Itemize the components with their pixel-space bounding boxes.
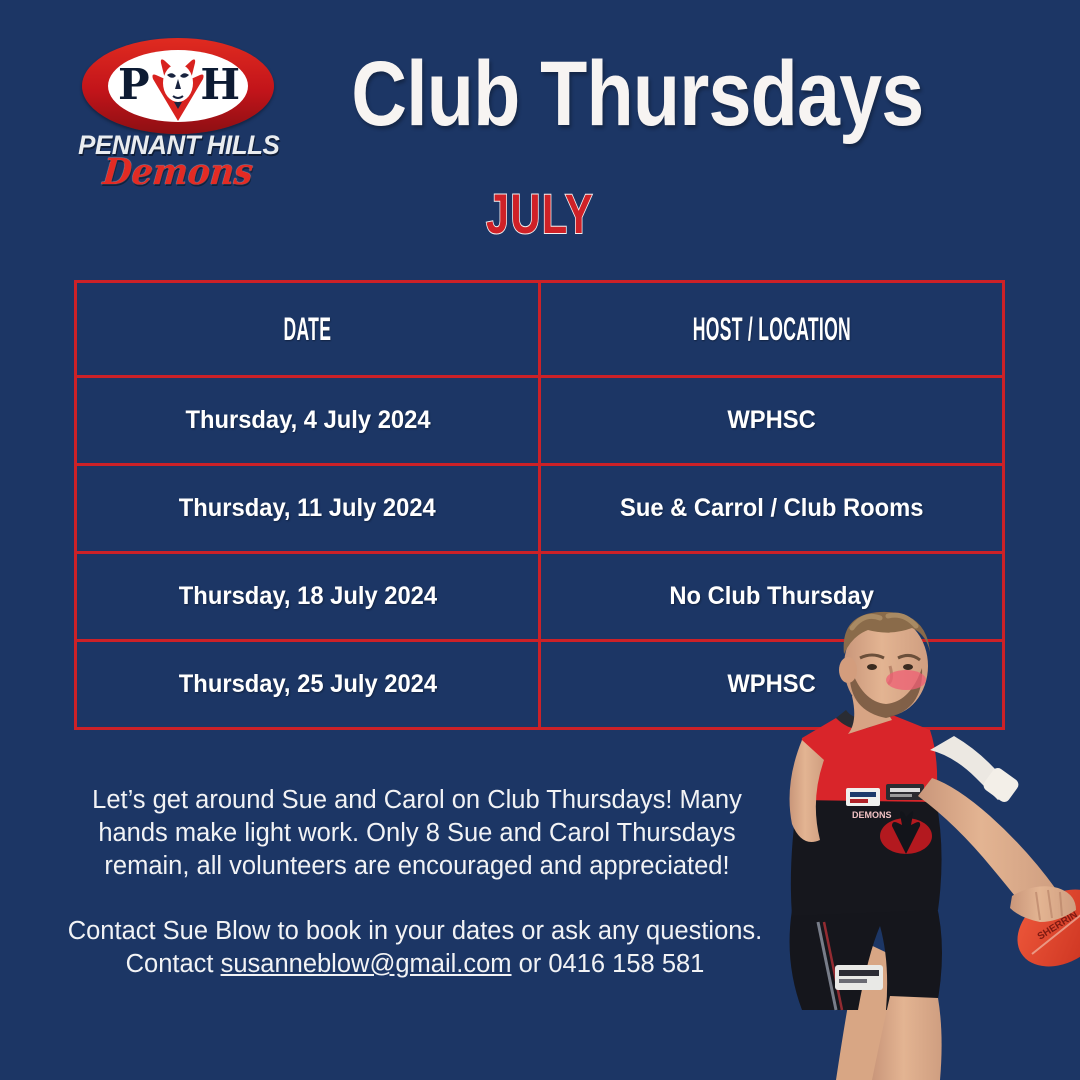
logo-ellipse-outer: P H: [82, 38, 274, 134]
cell-host: Sue & Carrol / Club Rooms: [540, 465, 1004, 553]
cell-date: Thursday, 4 July 2024: [76, 377, 540, 465]
month-heading: JULY: [392, 186, 688, 242]
contact-phone: 0416 158 581: [548, 950, 704, 978]
logo-script-demons: Demons: [80, 151, 275, 193]
devil-head-icon: [147, 53, 209, 121]
table-row: Thursday, 18 July 2024 No Club Thursday: [76, 553, 1004, 641]
cell-host-label: Sue & Carrol / Club Rooms: [620, 494, 924, 523]
blurb-text: Let’s get around Sue and Carol on Club T…: [74, 784, 760, 883]
logo-ellipse-inner: P H: [108, 50, 248, 122]
cell-host-label: No Club Thursday: [669, 582, 874, 611]
contact-email-link[interactable]: susanneblow@gmail.com: [221, 950, 512, 978]
contact-line-2: Contact susanneblow@gmail.com or 0416 15…: [60, 948, 770, 981]
cell-host: WPHSC: [540, 377, 1004, 465]
table-row: Thursday, 4 July 2024 WPHSC: [76, 377, 1004, 465]
column-header-host-label: HOST / LOCATION: [692, 311, 850, 348]
pennant-hills-demons-logo: P H PENNANT HILLS Demons: [74, 38, 282, 178]
cell-date-label: Thursday, 18 July 2024: [178, 582, 436, 611]
table-row: Thursday, 25 July 2024 WPHSC: [76, 641, 1004, 729]
column-header-date: DATE: [76, 282, 540, 377]
contact-block: Contact Sue Blow to book in your dates o…: [60, 915, 770, 981]
cell-date-label: Thursday, 4 July 2024: [185, 406, 430, 435]
svg-text:DEMONS: DEMONS: [852, 810, 892, 820]
page-title: Club Thursdays: [351, 48, 889, 140]
svg-text:SHERRIN: SHERRIN: [1036, 909, 1080, 942]
cell-host: No Club Thursday: [540, 553, 1004, 641]
contact-prefix: Contact: [126, 950, 221, 978]
cell-host-label: WPHSC: [727, 406, 815, 435]
schedule-table-body: DATE HOST / LOCATION Thursday, 4 July 20…: [76, 282, 1004, 729]
contact-line-1: Contact Sue Blow to book in your dates o…: [60, 915, 770, 948]
club-thursdays-poster: P H PENNANT HILLS Demons Club Thursdays …: [0, 0, 1080, 1080]
cell-date-label: Thursday, 25 July 2024: [178, 670, 436, 699]
contact-middle: or: [512, 950, 549, 978]
logo-initial-p: P: [118, 64, 150, 106]
column-header-host: HOST / LOCATION: [540, 282, 1004, 377]
cell-date-label: Thursday, 11 July 2024: [179, 494, 436, 523]
cell-date: Thursday, 18 July 2024: [76, 553, 540, 641]
table-header-row: DATE HOST / LOCATION: [76, 282, 1004, 377]
table-row: Thursday, 11 July 2024 Sue & Carrol / Cl…: [76, 465, 1004, 553]
cell-date: Thursday, 11 July 2024: [76, 465, 540, 553]
column-header-date-label: DATE: [284, 311, 332, 348]
cell-host: WPHSC: [540, 641, 1004, 729]
cell-host-label: WPHSC: [727, 670, 815, 699]
cell-date: Thursday, 25 July 2024: [76, 641, 540, 729]
schedule-table: DATE HOST / LOCATION Thursday, 4 July 20…: [74, 280, 1005, 730]
